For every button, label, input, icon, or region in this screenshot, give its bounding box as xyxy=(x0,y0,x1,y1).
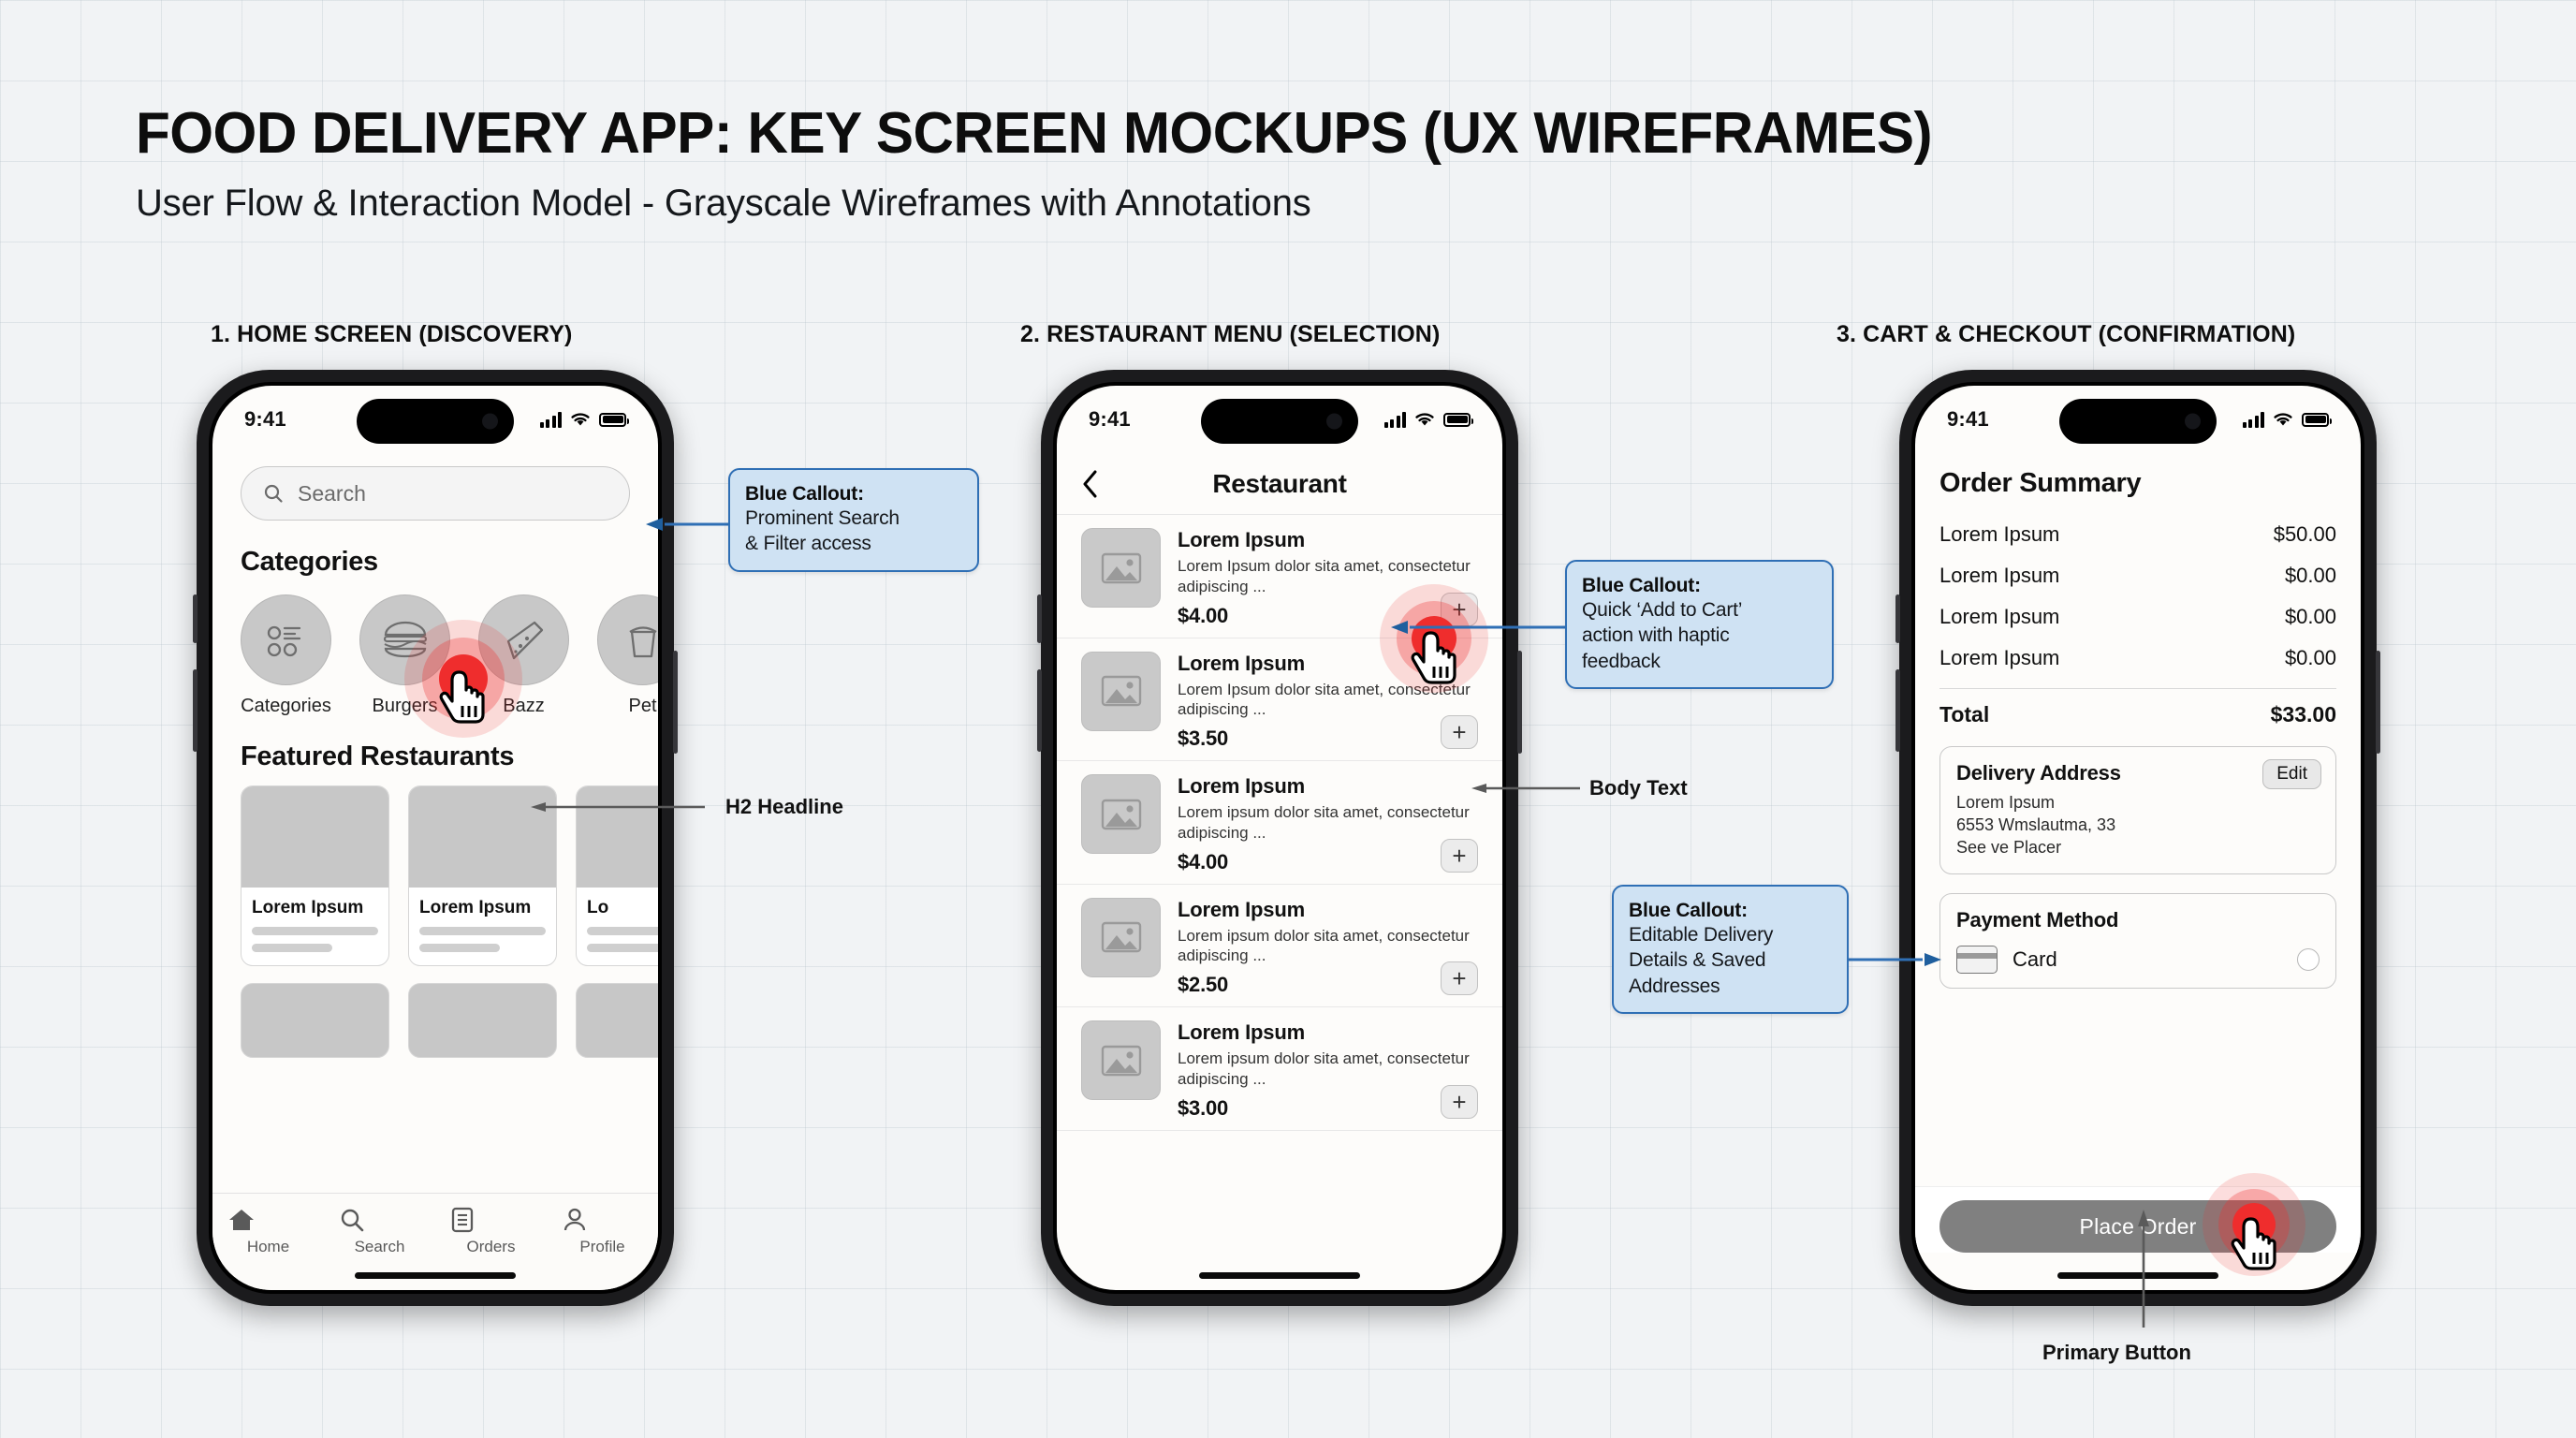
screen-label-checkout: 3. CART & CHECKOUT (CONFIRMATION) xyxy=(1837,321,2295,348)
callout-search: Blue Callout: Prominent Search & Filter … xyxy=(728,468,979,572)
credit-card-icon xyxy=(1956,946,1998,974)
edit-address-button[interactable]: Edit xyxy=(2262,759,2321,789)
annotation-body-text: Body Text xyxy=(1589,776,1688,800)
front-camera-icon xyxy=(482,414,498,430)
address-line-3: See ve Placer xyxy=(1956,837,2320,859)
tab-search[interactable]: Search xyxy=(339,1207,421,1256)
placeholder-line xyxy=(419,944,500,952)
total-label: Total xyxy=(1939,702,1989,727)
add-to-cart-button[interactable]: + xyxy=(1441,961,1478,995)
wifi-icon xyxy=(570,412,591,428)
address-line-2: 6553 Wmslautma, 33 xyxy=(1956,814,2320,837)
annotation-connector-h2 xyxy=(529,798,707,816)
phone-restaurant-menu: 9:41 Restaurant xyxy=(1041,370,1518,1306)
image-placeholder-icon xyxy=(1081,898,1161,977)
card-thumbnail xyxy=(241,786,388,888)
add-to-cart-button[interactable]: + xyxy=(1441,839,1478,873)
callout-title: Blue Callout: xyxy=(1629,900,1832,922)
cellular-bars-icon xyxy=(1384,412,1407,428)
phone-bezel: 9:41 Search Categories xyxy=(209,382,662,1294)
phone-bezel: 9:41 Restaurant xyxy=(1053,382,1506,1294)
battery-icon xyxy=(2302,413,2329,427)
callout-add-to-cart: Blue Callout: Quick ‘Add to Cart’ action… xyxy=(1565,560,1834,689)
orders-list-icon xyxy=(450,1207,533,1233)
summary-row: Lorem Ipsum $50.00 xyxy=(1939,514,2336,555)
callout-body: Editable Delivery Details & Saved Addres… xyxy=(1629,922,1832,999)
menu-item-name: Lorem Ipsum xyxy=(1178,528,1478,552)
featured-cards-row-2 xyxy=(241,983,630,1058)
category-item-categories[interactable]: Categories xyxy=(241,594,331,717)
annotation-h2-headline: H2 Headline xyxy=(725,795,843,819)
order-summary-title: Order Summary xyxy=(1939,468,2336,499)
status-time: 9:41 xyxy=(244,407,286,432)
home-icon xyxy=(227,1207,310,1233)
callout-body: Prominent Search & Filter access xyxy=(745,506,962,557)
status-bar: 9:41 xyxy=(212,386,658,453)
add-to-cart-button[interactable]: + xyxy=(1441,1085,1478,1119)
person-icon xyxy=(562,1207,644,1233)
status-bar: 9:41 xyxy=(1057,386,1502,453)
tab-home[interactable]: Home xyxy=(227,1207,310,1256)
placeholder-line xyxy=(419,927,546,935)
tap-highlight-add-to-cart xyxy=(1348,562,1535,749)
phone-bezel: 9:41 Order Summary Lorem Ipsum $50.00 xyxy=(1911,382,2364,1294)
payment-option-card[interactable]: Card xyxy=(1956,946,2320,974)
annotation-connector-body xyxy=(1470,779,1582,798)
status-indicators xyxy=(2243,412,2330,428)
search-icon xyxy=(262,482,285,505)
checkout-screen: 9:41 Order Summary Lorem Ipsum $50.00 xyxy=(1915,386,2361,1290)
card-name: Lo xyxy=(587,898,658,918)
restaurant-card[interactable] xyxy=(241,983,389,1058)
payment-method-title: Payment Method xyxy=(1956,908,2320,932)
status-bar: 9:41 xyxy=(1915,386,2361,453)
summary-amount: $0.00 xyxy=(2285,646,2336,670)
status-time: 9:41 xyxy=(1089,407,1131,432)
payment-option-label: Card xyxy=(2012,947,2057,972)
cellular-bars-icon xyxy=(2243,412,2265,428)
tab-label: Search xyxy=(339,1238,421,1256)
tab-label: Profile xyxy=(562,1238,644,1256)
image-placeholder-icon xyxy=(1081,528,1161,608)
cellular-bars-icon xyxy=(540,412,563,428)
restaurant-screen: 9:41 Restaurant xyxy=(1057,386,1502,1290)
dynamic-island xyxy=(2059,399,2217,444)
callout-title: Blue Callout: xyxy=(1582,575,1817,597)
tap-highlight-place-order xyxy=(2172,1161,2349,1339)
screen-label-home: 1. HOME SCREEN (DISCOVERY) xyxy=(211,321,572,348)
menu-item-name: Lorem Ipsum xyxy=(1178,898,1478,922)
divider xyxy=(1939,688,2336,689)
tab-profile[interactable]: Profile xyxy=(562,1207,644,1256)
page-subtitle: User Flow & Interaction Model - Grayscal… xyxy=(136,183,1987,225)
image-placeholder-icon xyxy=(1081,652,1161,731)
summary-label: Lorem Ipsum xyxy=(1939,522,2059,547)
menu-item-price: $3.00 xyxy=(1178,1096,1478,1121)
image-placeholder-icon xyxy=(1081,1020,1161,1100)
summary-row: Lorem Ipsum $0.00 xyxy=(1939,596,2336,638)
menu-item-desc: Lorem ipsum dolor sita amet, consectetur… xyxy=(1178,1049,1478,1090)
placeholder-line xyxy=(587,944,658,952)
chevron-left-icon[interactable] xyxy=(1081,469,1100,499)
annotation-connector-primary xyxy=(2134,1208,2153,1329)
summary-row: Lorem Ipsum $0.00 xyxy=(1939,555,2336,596)
screen-label-menu: 2. RESTAURANT MENU (SELECTION) xyxy=(1020,321,1440,348)
home-indicator xyxy=(1199,1272,1360,1279)
payment-radio-button[interactable] xyxy=(2297,948,2320,971)
tab-orders[interactable]: Orders xyxy=(450,1207,533,1256)
front-camera-icon xyxy=(2185,414,2201,430)
menu-item-name: Lorem Ipsum xyxy=(1178,774,1478,799)
address-line-1: Lorem Ipsum xyxy=(1956,792,2320,814)
tab-label: Home xyxy=(227,1238,310,1256)
search-icon xyxy=(339,1207,421,1233)
status-indicators xyxy=(1384,412,1471,428)
menu-item-desc: Lorem ipsum dolor sita amet, consectetur… xyxy=(1178,802,1478,844)
summary-label: Lorem Ipsum xyxy=(1939,605,2059,629)
callout-title: Blue Callout: xyxy=(745,483,962,506)
home-indicator xyxy=(355,1272,516,1279)
summary-amount: $0.00 xyxy=(2285,564,2336,588)
category-item-pet[interactable]: Pet xyxy=(597,594,658,717)
dynamic-island xyxy=(357,399,514,444)
status-indicators xyxy=(540,412,627,428)
callout-connector-3 xyxy=(1842,946,1945,974)
power-button[interactable] xyxy=(2376,651,2380,754)
card-name: Lorem Ipsum xyxy=(252,898,378,918)
battery-icon xyxy=(1443,413,1471,427)
menu-item-price: $2.50 xyxy=(1178,973,1478,997)
search-input[interactable]: Search xyxy=(241,466,630,521)
payment-method-panel: Payment Method Card xyxy=(1939,893,2336,989)
card-name: Lorem Ipsum xyxy=(419,898,546,918)
search-placeholder: Search xyxy=(298,481,366,506)
placeholder-line xyxy=(252,927,378,935)
summary-label: Lorem Ipsum xyxy=(1939,646,2059,670)
phone-home-screen: 9:41 Search Categories xyxy=(197,370,674,1306)
restaurant-card[interactable]: Lorem Ipsum xyxy=(241,785,389,966)
power-button[interactable] xyxy=(673,651,678,754)
summary-row: Lorem Ipsum $0.00 xyxy=(1939,638,2336,679)
page-title: FOOD DELIVERY APP: KEY SCREEN MOCKUPS (U… xyxy=(136,103,1932,164)
summary-amount: $0.00 xyxy=(2285,605,2336,629)
summary-amount: $50.00 xyxy=(2274,522,2336,547)
image-placeholder-icon xyxy=(1081,774,1161,854)
total-row: Total $33.00 xyxy=(1939,695,2336,727)
wifi-icon xyxy=(2273,412,2293,428)
placeholder-line xyxy=(252,944,332,952)
placeholder-line xyxy=(587,927,658,935)
restaurant-card[interactable] xyxy=(408,983,557,1058)
wifi-icon xyxy=(1414,412,1435,428)
grid-categories-icon xyxy=(241,594,331,685)
page-header: FOOD DELIVERY APP: KEY SCREEN MOCKUPS (U… xyxy=(136,103,1987,225)
total-amount: $33.00 xyxy=(2271,702,2336,727)
menu-item-name: Lorem Ipsum xyxy=(1178,1020,1478,1045)
summary-label: Lorem Ipsum xyxy=(1939,564,2059,588)
categories-heading: Categories xyxy=(241,547,630,578)
home-screen: 9:41 Search Categories xyxy=(212,386,658,1290)
restaurant-card[interactable] xyxy=(576,983,658,1058)
menu-item-desc: Lorem ipsum dolor sita amet, consectetur… xyxy=(1178,926,1478,967)
menu-item-row[interactable]: Lorem Ipsum Lorem ipsum dolor sita amet,… xyxy=(1057,1007,1502,1131)
battery-icon xyxy=(599,413,626,427)
category-label: Categories xyxy=(241,696,331,717)
tab-label: Orders xyxy=(450,1238,533,1256)
nav-title: Restaurant xyxy=(1212,469,1346,499)
delivery-address-panel: Delivery Address Edit Lorem Ipsum 6553 W… xyxy=(1939,746,2336,874)
category-label: Pet xyxy=(597,696,658,717)
annotation-primary-button: Primary Button xyxy=(2042,1341,2191,1365)
status-time: 9:41 xyxy=(1947,407,1989,432)
nav-bar: Restaurant xyxy=(1057,453,1502,515)
menu-item-row[interactable]: Lorem Ipsum Lorem ipsum dolor sita amet,… xyxy=(1057,761,1502,885)
callout-delivery-details: Blue Callout: Editable Delivery Details … xyxy=(1612,885,1849,1014)
menu-item-row[interactable]: Lorem Ipsum Lorem ipsum dolor sita amet,… xyxy=(1057,885,1502,1008)
callout-body: Quick ‘Add to Cart’ action with haptic f… xyxy=(1582,597,1817,674)
dynamic-island xyxy=(1201,399,1358,444)
drink-cup-icon xyxy=(597,594,658,685)
front-camera-icon xyxy=(1326,414,1342,430)
callout-connector-2 xyxy=(1387,613,1574,641)
menu-item-price: $4.00 xyxy=(1178,850,1478,874)
tap-highlight-burgers xyxy=(374,599,571,805)
home-content: Search Categories xyxy=(212,453,658,1290)
